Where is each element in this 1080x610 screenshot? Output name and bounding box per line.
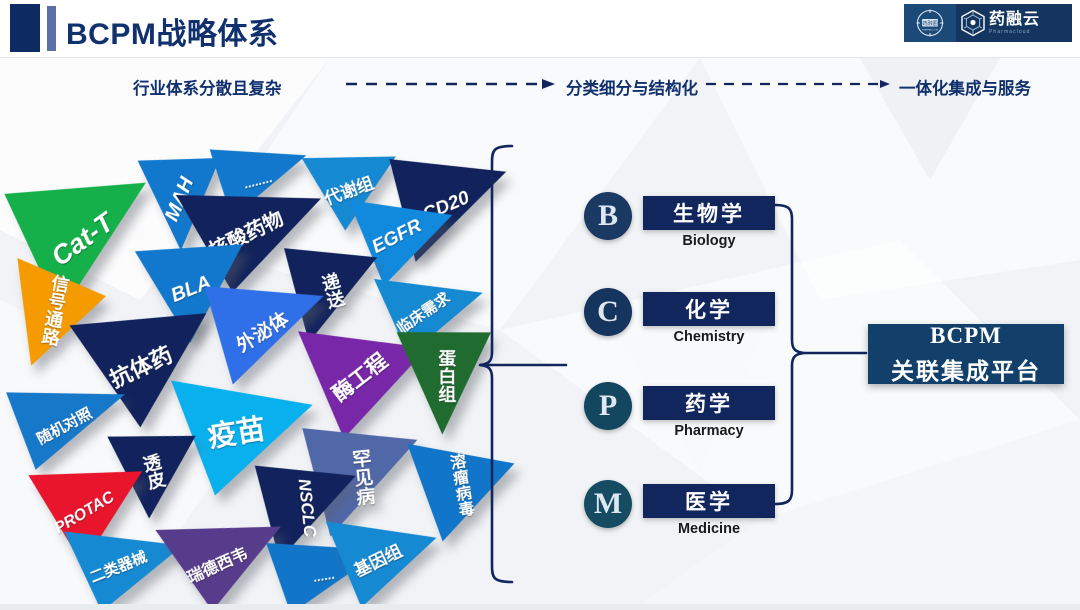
- platform-line-2: 关联集成平台: [891, 352, 1041, 386]
- discipline-box-c[interactable]: 化学: [643, 292, 775, 326]
- svg-text:PHARMACLOUD: PHARMACLOUD: [922, 29, 939, 32]
- yaorongyun-logo[interactable]: 药融云 Pharmacloud: [956, 4, 1072, 42]
- yaorongquan-seal-icon[interactable]: 药融圈 PHARMACLOUD: [904, 4, 956, 42]
- discipline-initial-b[interactable]: B: [584, 192, 632, 240]
- slide-header: BCPM战略体系 药融圈 PHARMACLOUD: [0, 0, 1080, 58]
- slide-canvas: BCPM战略体系 药融圈 PHARMACLOUD: [0, 0, 1080, 610]
- discipline-box-b[interactable]: 生物学: [643, 196, 775, 230]
- keyword-triangle: 基因组: [321, 510, 441, 610]
- discipline-en-c: Chemistry: [643, 329, 775, 345]
- discipline-en-b: Biology: [643, 233, 775, 249]
- logo-text-en: Pharmacloud: [989, 30, 1040, 35]
- discipline-en-m: Medicine: [643, 521, 775, 537]
- logo-group[interactable]: 药融圈 PHARMACLOUD 药融云 Pharmacloud: [904, 4, 1072, 42]
- discipline-box-m[interactable]: 医学: [643, 484, 775, 518]
- slide-bottom-edge: [0, 604, 1080, 610]
- dashed-arrow-2: [706, 77, 892, 91]
- header-accent-block: [10, 4, 40, 52]
- svg-text:药融圈: 药融圈: [922, 19, 938, 27]
- stage-label-2: 分类细分与结构化: [566, 75, 698, 99]
- discipline-initial-p[interactable]: P: [584, 382, 632, 430]
- discipline-initial-m[interactable]: M: [584, 480, 632, 528]
- platform-line-1: BCPM: [930, 323, 1002, 349]
- hexagon-chip-icon: [960, 9, 986, 37]
- discipline-box-p[interactable]: 药学: [643, 386, 775, 420]
- discipline-initial-c[interactable]: C: [584, 288, 632, 336]
- discipline-en-p: Pharmacy: [643, 423, 775, 439]
- stage-label-3: 一体化集成与服务: [899, 75, 1031, 99]
- stage-label-1: 行业体系分散且复杂: [133, 75, 282, 99]
- page-title: BCPM战略体系: [66, 9, 278, 53]
- header-divider: [0, 57, 1080, 58]
- logo-text-cn: 药融云: [989, 12, 1040, 28]
- header-accent-bar: [47, 6, 56, 51]
- bcpm-platform-box[interactable]: BCPM 关联集成平台: [868, 324, 1064, 384]
- dashed-arrow-1: [346, 76, 558, 90]
- triangle-shape: [321, 510, 441, 610]
